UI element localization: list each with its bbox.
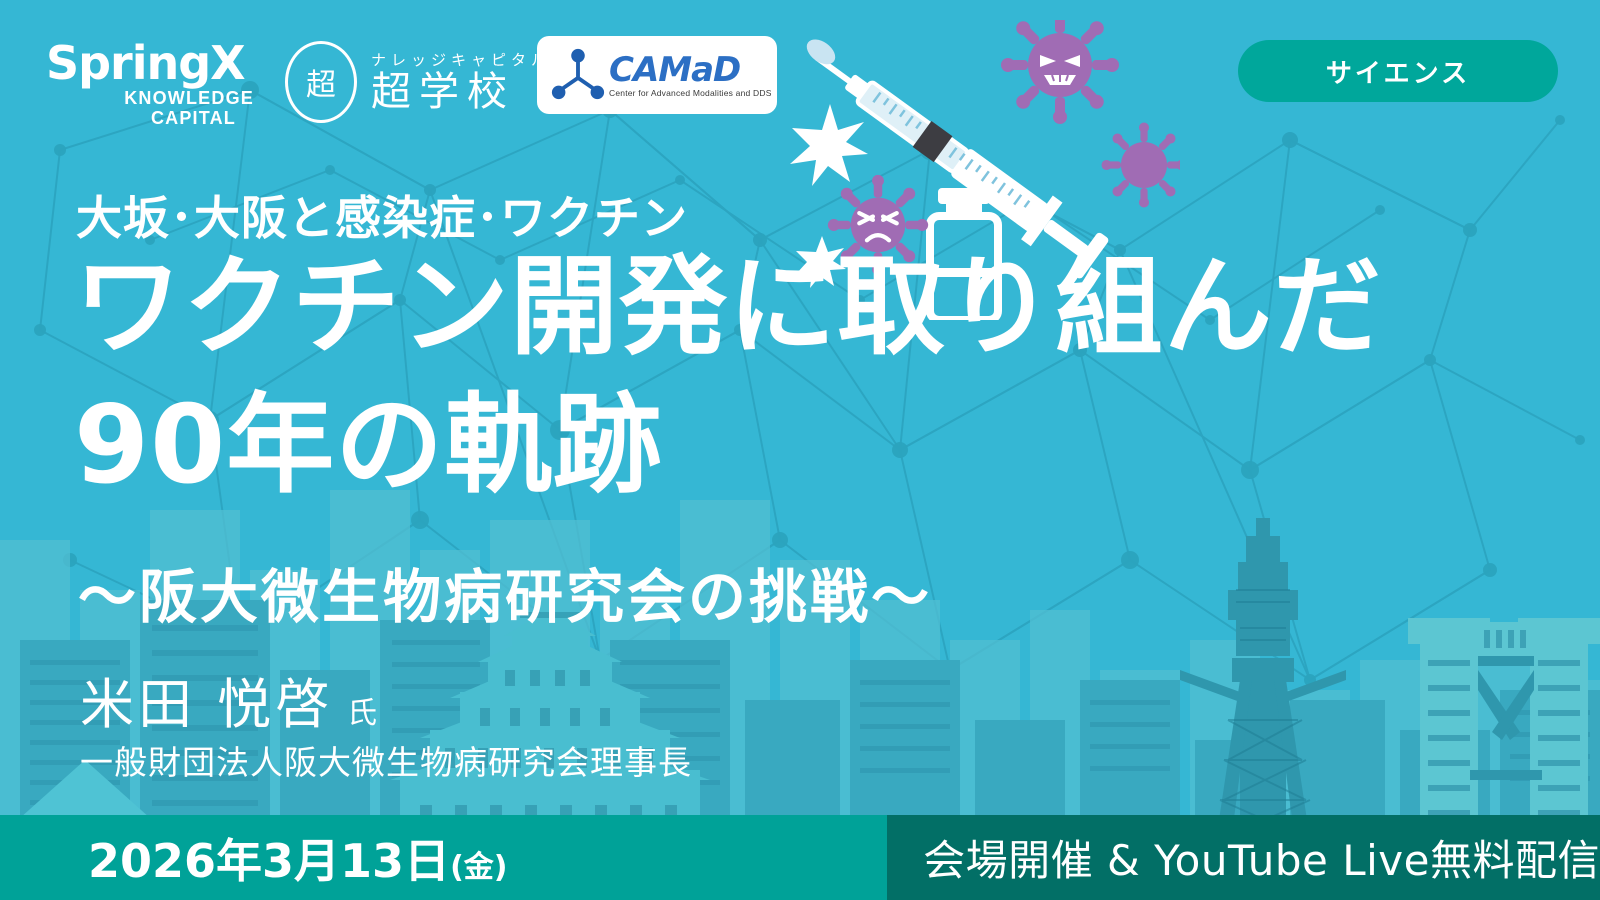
- subtitle-tagline: ～阪大微生物病研究会の挑戦～: [78, 550, 932, 634]
- headline-line-2: 90年の軌跡: [74, 390, 662, 502]
- speaker-honorific: 氏: [347, 696, 377, 731]
- event-info-bar: 2026年3月13日(金) 会場開催 & YouTube Live無料配信: [0, 815, 1600, 900]
- event-date: 2026年3月13日(金): [88, 825, 507, 891]
- title-block: 大坂･大阪と感染症･ワクチン ワクチン開発に取り組んだ 90年の軌跡 ～阪大微生…: [0, 0, 1600, 900]
- delivery-method: 会場開催 & YouTube Live無料配信: [923, 827, 1600, 888]
- speaker-affiliation: 一般財団法人阪大微生物病研究会理事長: [80, 736, 692, 784]
- delivery-section: 会場開催 & YouTube Live無料配信: [887, 815, 1600, 900]
- event-date-text: 2026年3月13日: [88, 834, 450, 888]
- speaker-line: 米田 悦啓氏: [80, 660, 377, 739]
- date-section: 2026年3月13日(金): [0, 815, 887, 900]
- speaker-name: 米田 悦啓: [80, 673, 333, 736]
- event-banner: SpringX KNOWLEDGE CAPITAL 超 ナレッジキャピタル 超学…: [0, 0, 1600, 900]
- event-day-of-week: (金): [450, 850, 507, 885]
- headline-line-1: ワクチン開発に取り組んだ: [74, 252, 1382, 364]
- kicker-text: 大坂･大阪と感染症･ワクチン: [76, 182, 688, 248]
